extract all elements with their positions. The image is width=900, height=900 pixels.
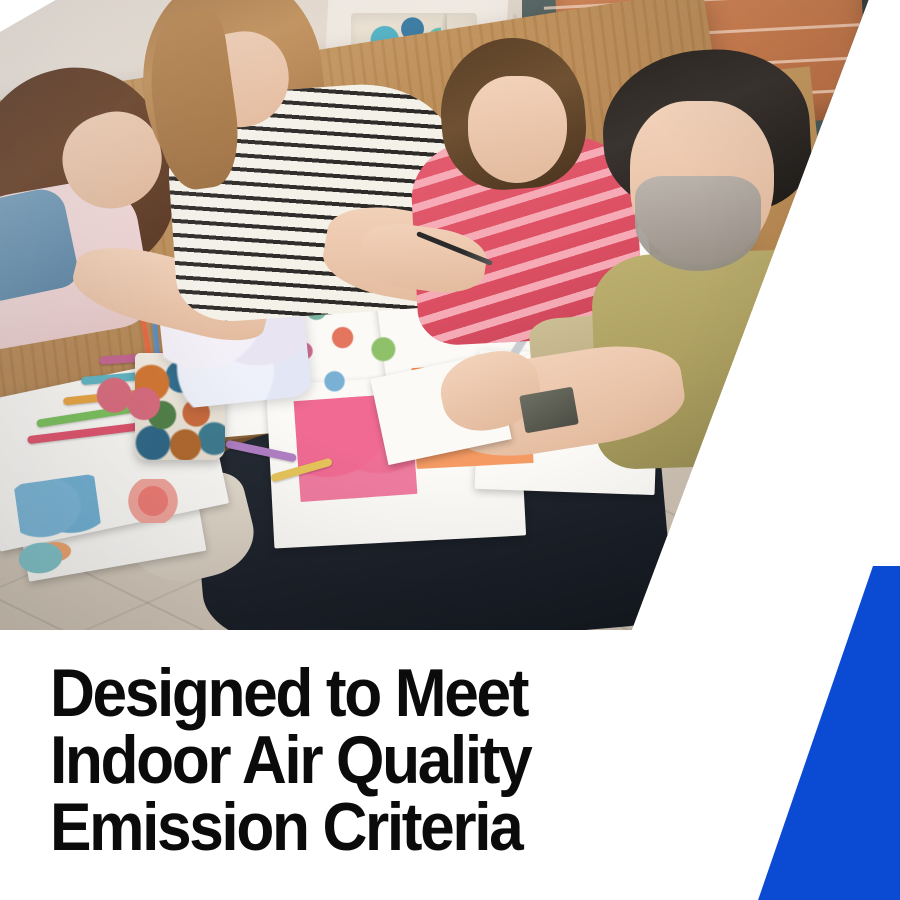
blue-accent-shape	[740, 555, 900, 900]
headline-line-1: Designed to Meet	[50, 660, 617, 727]
headline-line-2: Indoor Air Quality	[50, 727, 617, 794]
hero-photo	[0, 0, 900, 630]
man-beard	[635, 176, 761, 271]
photo-scene	[0, 0, 900, 630]
page-title: Designed to Meet Indoor Air Quality Emis…	[50, 660, 617, 861]
boy-face	[468, 76, 567, 183]
bird-artwork	[7, 532, 74, 582]
flower-artwork	[126, 479, 180, 523]
poster-canvas: Designed to Meet Indoor Air Quality Emis…	[0, 0, 900, 900]
headline-line-3: Emission Criteria	[50, 794, 617, 861]
